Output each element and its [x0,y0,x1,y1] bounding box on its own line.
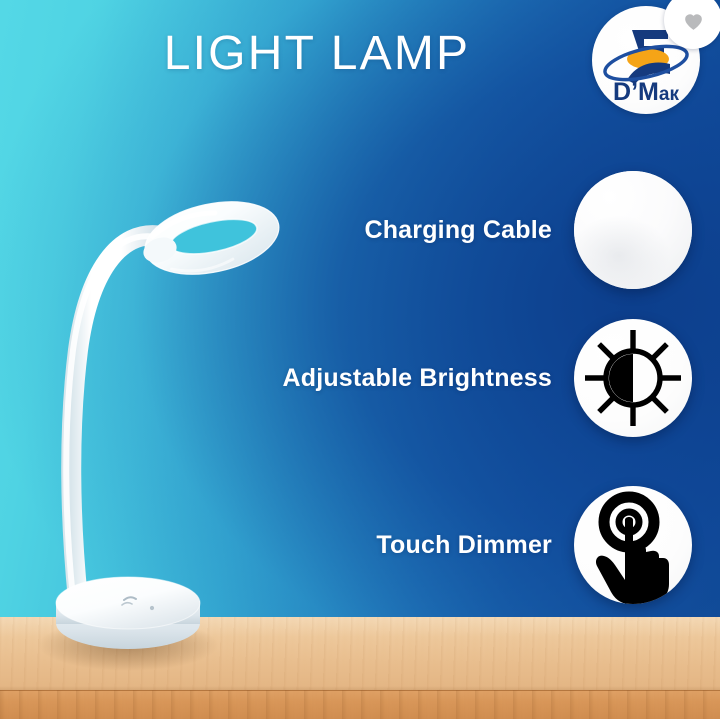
feature-adjustable-brightness: Adjustable Brightness [132,319,692,437]
usb-charging-cable-photo [574,171,692,289]
table-front-edge [0,690,720,719]
feature-charging-cable: Charging Cable [132,171,692,289]
table-surface [0,617,720,695]
feature-icon-touch-dimmer [574,486,692,604]
svg-text:D’Maк: D’Maк [613,78,679,106]
feature-label-touch-dimmer: Touch Dimmer [376,531,552,560]
product-marketing-image: LIGHT LAMP D’Maк Charging Cable [0,0,720,719]
feature-label-charging-cable: Charging Cable [364,216,552,245]
feature-touch-dimmer: Touch Dimmer [132,486,692,604]
heart-icon [681,8,706,33]
feature-icon-adjustable-brightness [574,319,692,437]
brightness-sun-icon [574,319,692,437]
feature-icon-charging-cable [574,171,692,289]
feature-label-adjustable-brightness: Adjustable Brightness [282,364,552,393]
touch-hand-icon [574,486,692,604]
